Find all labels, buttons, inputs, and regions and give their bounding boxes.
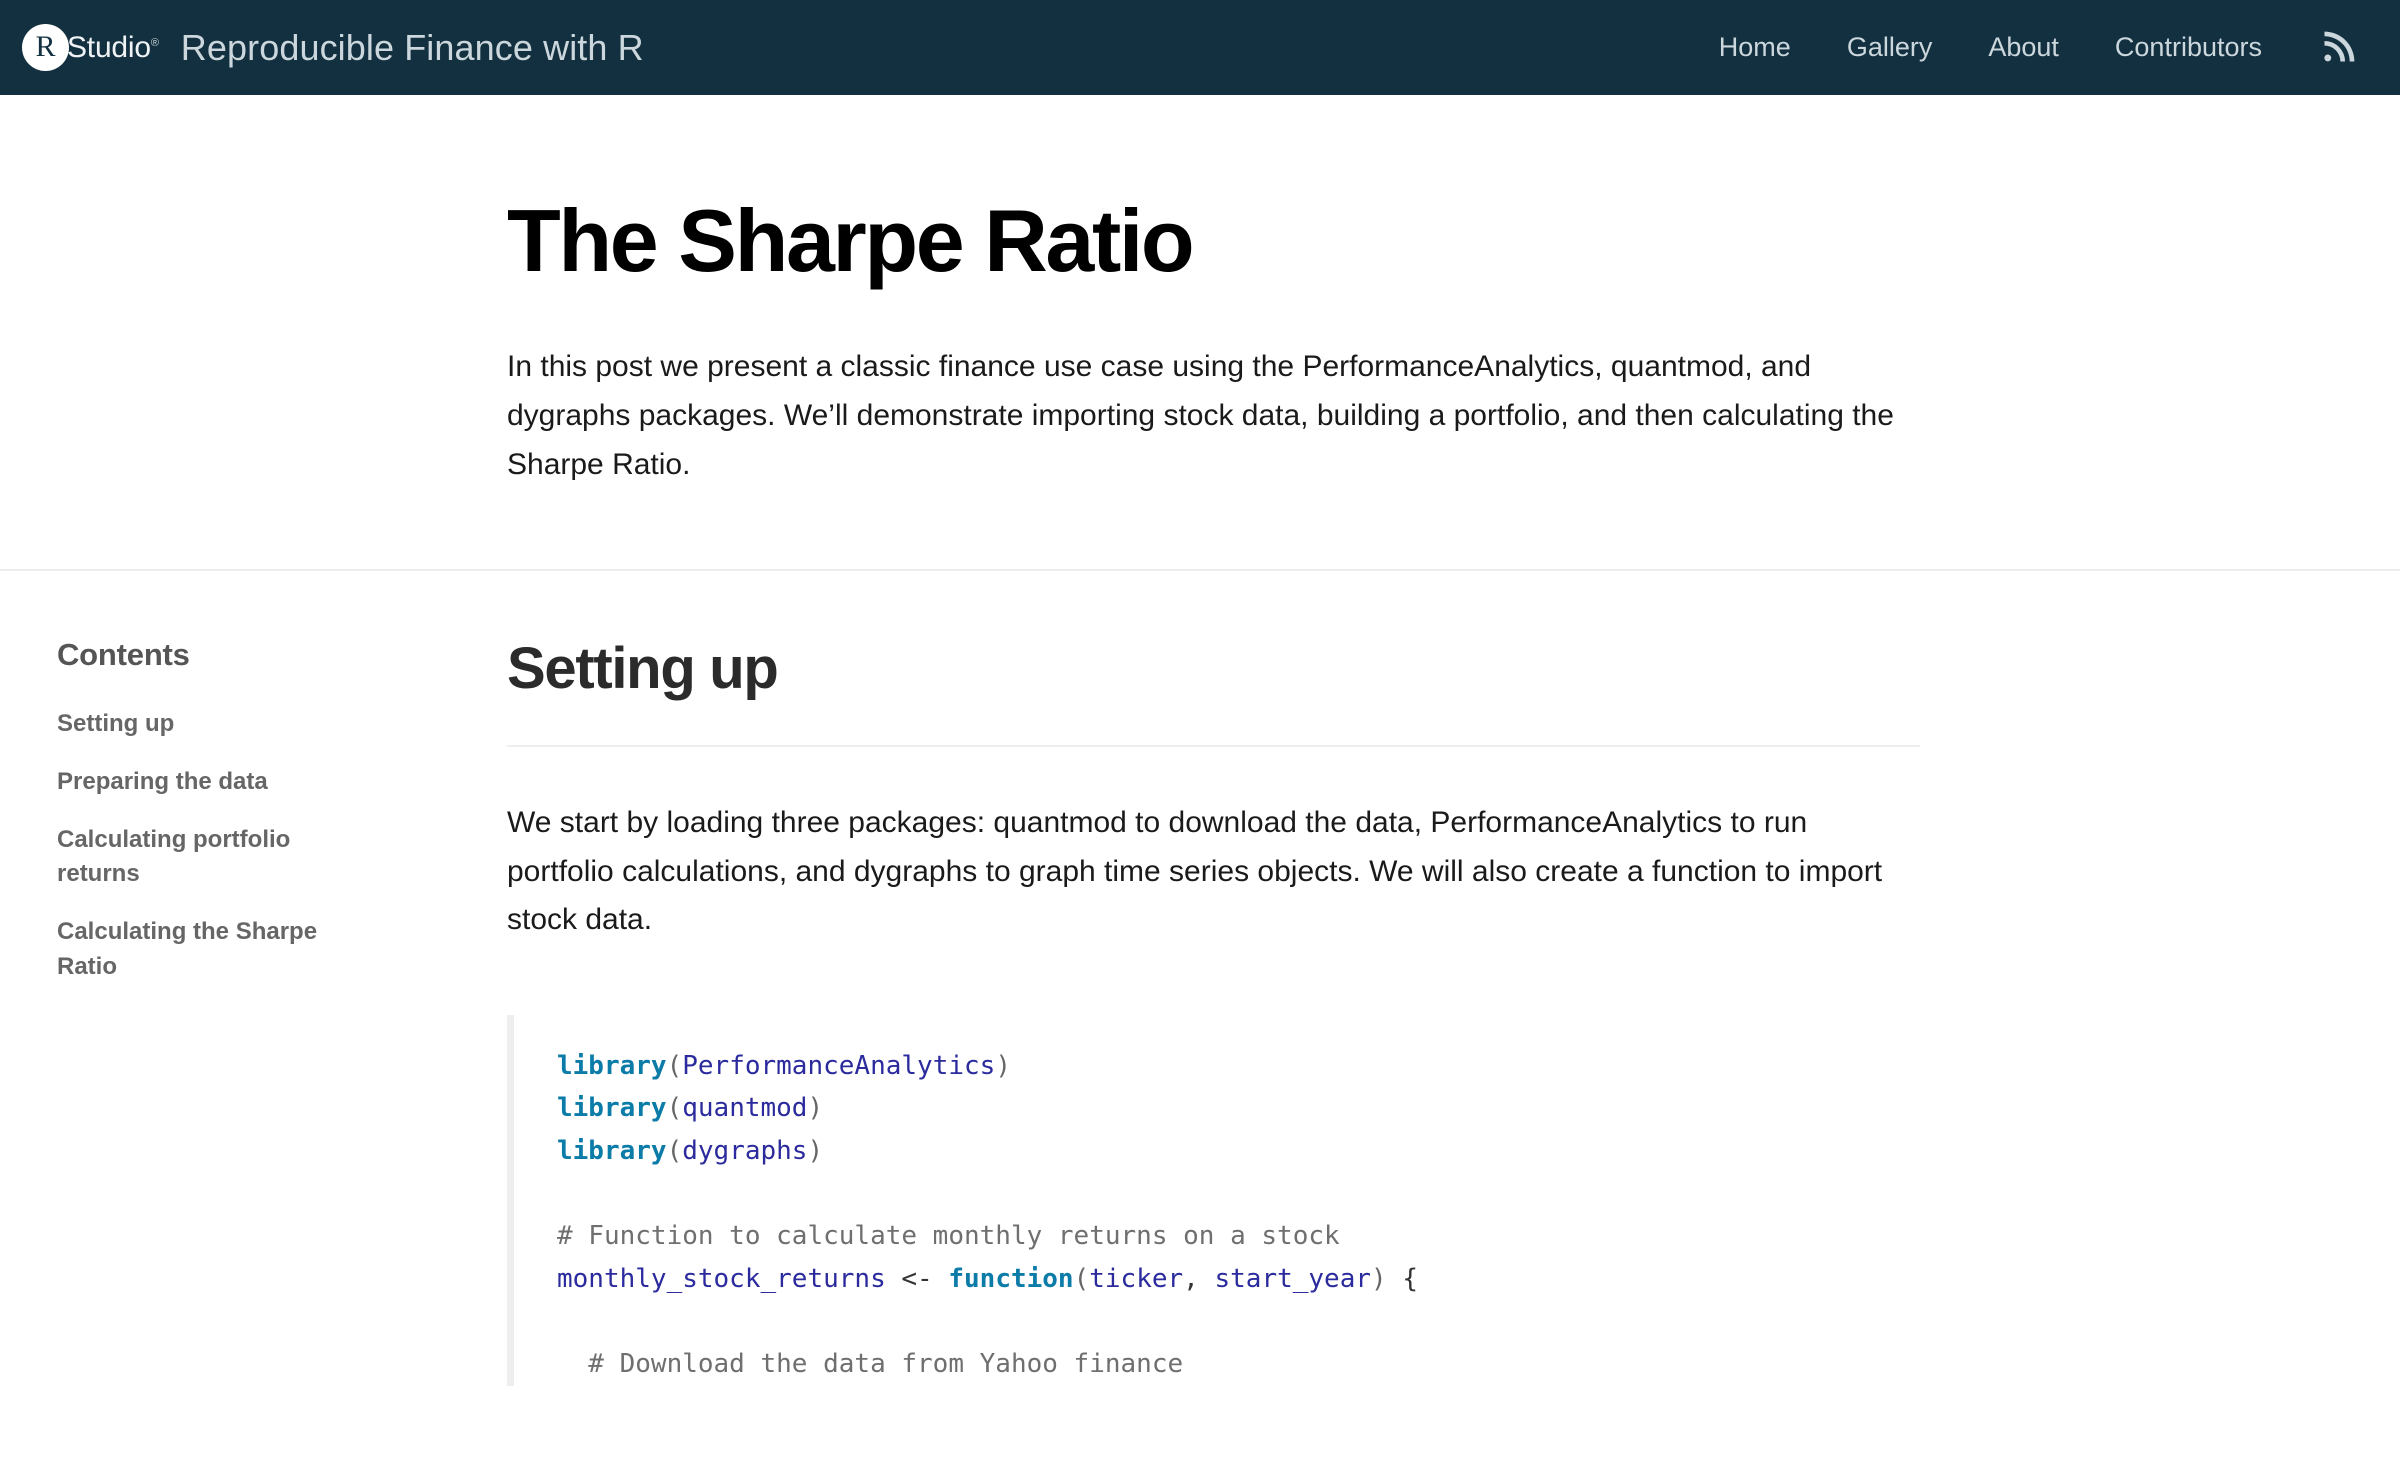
table-of-contents-sidebar: Contents Setting up Preparing the data C… (0, 637, 507, 1412)
list-item: Calculating portfolio returns (57, 823, 467, 891)
article-body: Setting up We start by loading three pac… (507, 637, 2400, 1412)
code-token-paren: ) (1371, 1264, 1387, 1294)
code-line: library(PerformanceAnalytics) (557, 1051, 1011, 1081)
rstudio-r-mark-icon: R (22, 24, 69, 71)
code-token-paren: ( (667, 1093, 683, 1123)
site-title[interactable]: Reproducible Finance with R (181, 27, 644, 69)
sidebar-item-preparing-the-data[interactable]: Preparing the data (57, 765, 357, 799)
code-token-comment: # Download the data from Yahoo finance (557, 1349, 1183, 1379)
code-line: # Download the data from Yahoo finance (557, 1349, 1183, 1379)
post-hero: The Sharpe Ratio In this post we present… (0, 95, 2400, 571)
code-token-paren: ( (667, 1051, 683, 1081)
section-paragraph: We start by loading three packages: quan… (507, 799, 1920, 945)
rstudio-logo-letter: R (35, 32, 55, 62)
code-token-paren: ( (667, 1136, 683, 1166)
code-token-comment: # Function to calculate monthly returns … (557, 1221, 1340, 1251)
trademark-mark: ® (151, 37, 159, 49)
primary-nav: Home Gallery About Contributors (1691, 30, 2372, 66)
code-token-ident: monthly_stock_returns (557, 1264, 886, 1294)
nav-link-home[interactable]: Home (1691, 32, 1819, 63)
toc-list: Setting up Preparing the data Calculatin… (57, 707, 467, 983)
nav-link-contributors[interactable]: Contributors (2087, 32, 2290, 63)
rstudio-logo[interactable]: R Studio® (22, 24, 159, 71)
code-token-fn: library (557, 1093, 667, 1123)
sidebar-item-calculating-portfolio-returns[interactable]: Calculating portfolio returns (57, 823, 357, 891)
section-heading-setting-up: Setting up (507, 637, 1920, 701)
nav-link-gallery[interactable]: Gallery (1819, 32, 1961, 63)
code-token-op: <- (886, 1264, 949, 1294)
code-block-r[interactable]: library(PerformanceAnalytics) library(qu… (507, 1015, 1920, 1386)
list-item: Calculating the Sharpe Ratio (57, 915, 467, 983)
rss-icon (2320, 30, 2356, 66)
post-description: In this post we present a classic financ… (507, 343, 1907, 489)
list-item: Preparing the data (57, 765, 467, 799)
code-line: # Function to calculate monthly returns … (557, 1221, 1340, 1251)
rss-feed-link[interactable] (2290, 30, 2372, 66)
code-line: library(dygraphs) (557, 1136, 823, 1166)
code-token-brace: { (1387, 1264, 1418, 1294)
code-token-ident: ticker (1089, 1264, 1183, 1294)
sidebar-heading: Contents (57, 637, 467, 673)
content-wrapper: Contents Setting up Preparing the data C… (0, 571, 2400, 1412)
list-item: Setting up (57, 707, 467, 741)
code-token-ident: dygraphs (682, 1136, 807, 1166)
page-title: The Sharpe Ratio (507, 195, 1937, 287)
code-token-ident: PerformanceAnalytics (682, 1051, 995, 1081)
rstudio-logo-word: Studio® (67, 31, 159, 65)
nav-link-about[interactable]: About (1960, 32, 2087, 63)
code-token-paren: ) (807, 1136, 823, 1166)
code-token-fn: library (557, 1051, 667, 1081)
code-token-paren: ) (995, 1051, 1011, 1081)
top-navigation-bar: R Studio® Reproducible Finance with R Ho… (0, 0, 2400, 95)
sidebar-item-setting-up[interactable]: Setting up (57, 707, 357, 741)
code-token-fn: function (948, 1264, 1073, 1294)
section-divider (507, 745, 1920, 747)
code-token-op: , (1183, 1264, 1214, 1294)
code-token-paren: ( (1074, 1264, 1090, 1294)
code-line: monthly_stock_returns <- function(ticker… (557, 1264, 1418, 1294)
sidebar-item-calculating-the-sharpe-ratio[interactable]: Calculating the Sharpe Ratio (57, 915, 357, 983)
brand-group: R Studio® Reproducible Finance with R (22, 24, 644, 71)
code-token-ident: start_year (1214, 1264, 1371, 1294)
code-line: library(quantmod) (557, 1093, 823, 1123)
code-token-fn: library (557, 1136, 667, 1166)
code-token-ident: quantmod (682, 1093, 807, 1123)
code-token-paren: ) (807, 1093, 823, 1123)
